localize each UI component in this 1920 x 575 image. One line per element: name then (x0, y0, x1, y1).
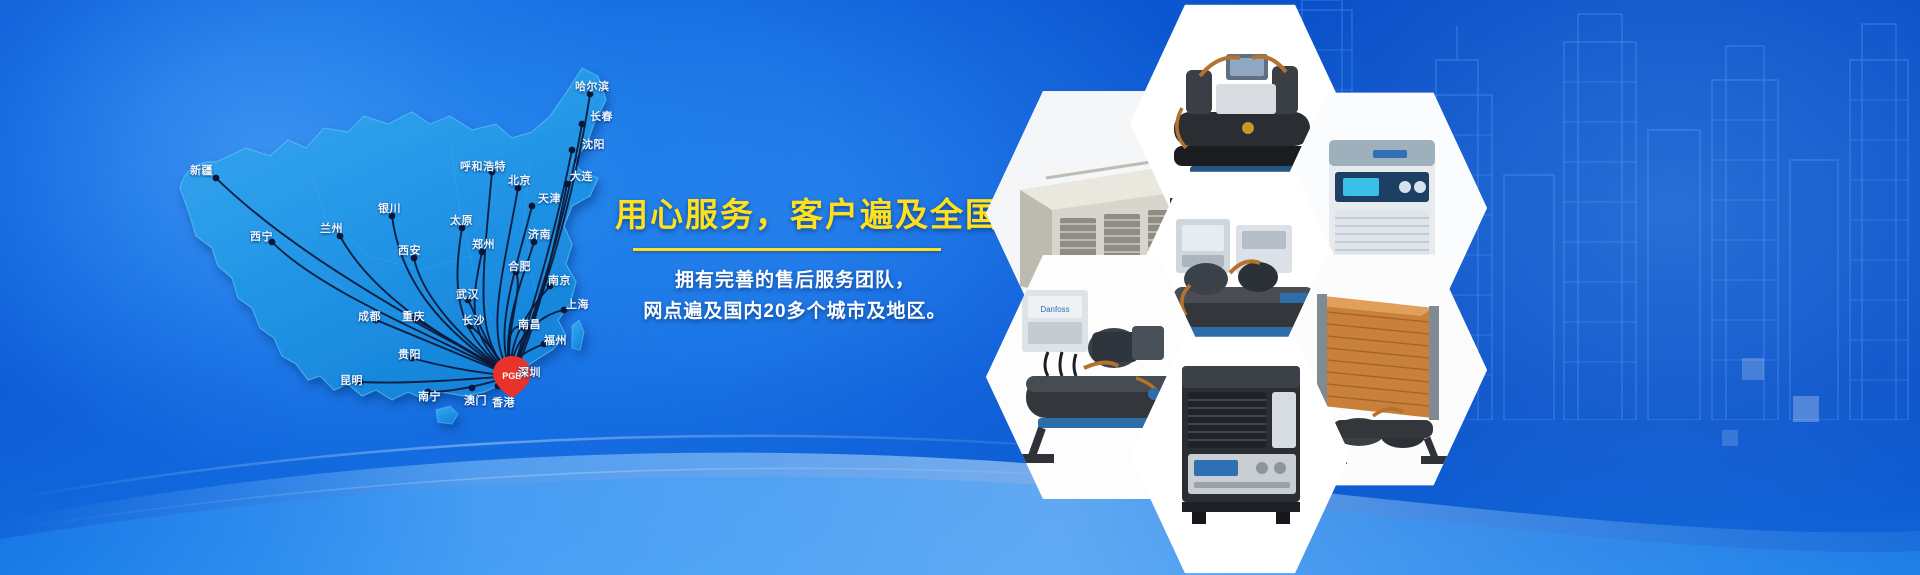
city-label-福州: 福州 (544, 332, 567, 348)
city-label-武汉: 武汉 (456, 286, 479, 302)
city-dot (569, 147, 576, 154)
product-hex-grid: Danfoss (980, 0, 1920, 470)
promo-text-block: 用心服务，客户遍及全国 拥有完善的售后服务团队， 网点遍及国内20多个城市及地区… (615, 196, 975, 327)
city-dot (529, 203, 536, 210)
city-dot (469, 385, 476, 392)
city-label-长春: 长春 (590, 108, 613, 124)
city-label-澳门: 澳门 (464, 392, 487, 408)
city-label-南宁: 南宁 (418, 388, 441, 404)
city-label-昆明: 昆明 (340, 372, 363, 388)
city-label-长沙: 长沙 (462, 312, 485, 328)
city-label-新疆: 新疆 (190, 162, 213, 178)
city-label-深圳: 深圳 (518, 364, 541, 380)
china-distribution-map: PGB 哈尔滨长春沈阳呼和浩特北京大连天津银川太原兰州西宁新疆郑州西安济南合肥南… (120, 20, 680, 440)
city-dot (579, 121, 586, 128)
city-label-沈阳: 沈阳 (582, 136, 605, 152)
city-label-上海: 上海 (566, 296, 589, 312)
headline-divider (633, 248, 941, 251)
city-label-天津: 天津 (538, 190, 561, 206)
city-label-合肥: 合肥 (508, 258, 531, 274)
city-label-太原: 太原 (450, 212, 473, 228)
city-label-西安: 西安 (398, 242, 421, 258)
city-label-西宁: 西宁 (250, 228, 273, 244)
city-label-重庆: 重庆 (402, 308, 425, 324)
city-label-郑州: 郑州 (472, 236, 495, 252)
city-label-兰州: 兰州 (320, 220, 343, 236)
city-label-银川: 银川 (378, 200, 401, 216)
city-dot (213, 175, 220, 182)
promo-banner: PGB 哈尔滨长春沈阳呼和浩特北京大连天津银川太原兰州西宁新疆郑州西安济南合肥南… (0, 0, 1920, 575)
city-label-大连: 大连 (570, 168, 593, 184)
city-label-贵阳: 贵阳 (398, 346, 421, 362)
city-label-香港: 香港 (492, 394, 515, 410)
subtitle-line-1: 拥有完善的售后服务团队， (615, 266, 975, 297)
city-label-成都: 成都 (358, 308, 381, 324)
subtitle-line-2: 网点遍及国内20多个城市及地区。 (615, 297, 975, 328)
city-label-南京: 南京 (548, 272, 571, 288)
city-label-南昌: 南昌 (518, 316, 541, 332)
city-label-呼和浩特: 呼和浩特 (460, 158, 506, 174)
banner-subtitle: 拥有完善的售后服务团队， 网点遍及国内20多个城市及地区。 (615, 266, 975, 328)
city-label-北京: 北京 (508, 172, 531, 188)
banner-headline: 用心服务，客户遍及全国 (615, 196, 975, 234)
svg-text:Danfoss: Danfoss (1040, 305, 1069, 314)
city-label-哈尔滨: 哈尔滨 (575, 78, 610, 94)
city-label-济南: 济南 (528, 226, 551, 242)
